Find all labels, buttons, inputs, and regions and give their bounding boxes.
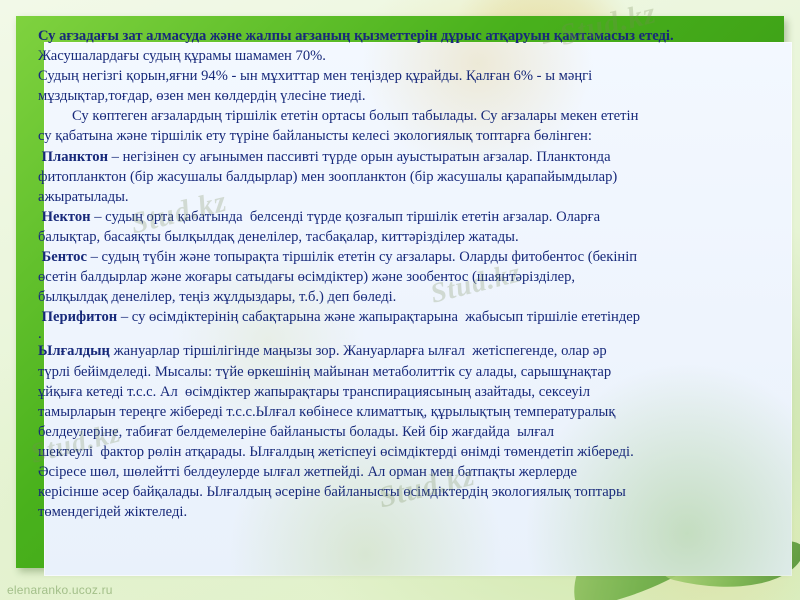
term-bentos: Бентос xyxy=(42,249,87,265)
text-line-plankton-3: ажыратылады. xyxy=(38,187,778,207)
text-line-moisture-6: шектеулі фактор рөлін атқарады. Ылғалдың… xyxy=(38,442,778,462)
text-line-moisture-8: керісінше әсер байқалады. Ылғалдың әсері… xyxy=(38,482,778,502)
presentation-slide: - Stud.kz Stud.kz Stud.kz Stud.kz Stud.k… xyxy=(0,0,800,600)
text-line-water-reserves: Судың негізгі қорын,яғни 94% - ын мұхитт… xyxy=(38,66,778,86)
text-line-moisture-5: белдеулеріне, табиғат белдемелеріне байл… xyxy=(38,422,778,442)
text-line-habitat-groups: су қабатына және тіршілік ету түріне бай… xyxy=(38,126,778,146)
text-line-moisture-2: түрлі бейімделеді. Мысалы: түйе өркешіні… xyxy=(38,362,778,382)
definition-bentos: – судың түбін және топырақта тіршілік ет… xyxy=(87,249,637,265)
paragraph-nekton: Нектон – судың орта қабатында белсенді т… xyxy=(38,207,778,227)
term-nekton: Нектон xyxy=(42,209,91,225)
site-watermark: elenaranko.ucoz.ru xyxy=(7,583,113,597)
paragraph-perifiton: Перифитон – су өсімдіктерінің сабақтарын… xyxy=(38,307,778,327)
definition-moisture: жануарлар тіршілігінде маңызы зор. Жануа… xyxy=(110,343,607,359)
definition-plankton: – негізінен су ағынымен пассивті түрде о… xyxy=(108,149,611,165)
text-line-moisture-7: Әсіресе шөл, шөлейтті белдеулерде ылғал … xyxy=(38,462,778,482)
text-line-bentos-2: өсетін балдырлар және жоғары сатыдағы өс… xyxy=(38,267,778,287)
text-line-moisture-9: төмендегідей жіктеледі. xyxy=(38,502,778,522)
paragraph-bentos: Бентос – судың түбін және топырақта тірш… xyxy=(38,247,778,267)
text-line: Су ағзадағы зат алмасуда және жалпы ағза… xyxy=(38,28,674,44)
text-line-cell-water: Жасушалардағы судың құрамы шамамен 70%. xyxy=(38,46,778,66)
term-perifiton: Перифитон xyxy=(42,309,118,325)
term-plankton: Планктон xyxy=(42,149,108,165)
text-line-moisture-3: ұйқыға кетеді т.с.с. Ал өсімдіктер жапыр… xyxy=(38,382,778,402)
paragraph-plankton: Планктон – негізінен су ағынымен пассивт… xyxy=(38,147,778,167)
text-line-nekton-2: балықтар, басаяқты былқылдақ денелілер, … xyxy=(38,227,778,247)
text-line-perifiton-2: . xyxy=(38,327,778,341)
text-line-moisture-4: тамырларын тереңге жібереді т.с.с.Ылғал … xyxy=(38,402,778,422)
definition-perifiton: – су өсімдіктерінің сабақтарына және жап… xyxy=(117,309,640,325)
slide-body-text: Су ағзадағы зат алмасуда және жалпы ағза… xyxy=(38,26,778,568)
text-line-habitat-intro: Су көптеген ағзалардың тіршілік ететін о… xyxy=(38,106,778,126)
definition-nekton: – судың орта қабатында белсенді түрде қо… xyxy=(91,209,601,225)
term-moisture: Ылғалдың xyxy=(38,343,110,359)
paragraph-water-metabolism: Су ағзадағы зат алмасуда және жалпы ағза… xyxy=(38,26,778,46)
text-line-glaciers: мұздықтар,тоғдар, өзен мен көлдердің үле… xyxy=(38,86,778,106)
text-line-plankton-2: фитопланктон (бір жасушалы балдырлар) ме… xyxy=(38,167,778,187)
text-line-bentos-3: былқылдақ денелілер, теңіз жұлдыздары, т… xyxy=(38,287,778,307)
paragraph-moisture: Ылғалдың жануарлар тіршілігінде маңызы з… xyxy=(38,341,778,361)
